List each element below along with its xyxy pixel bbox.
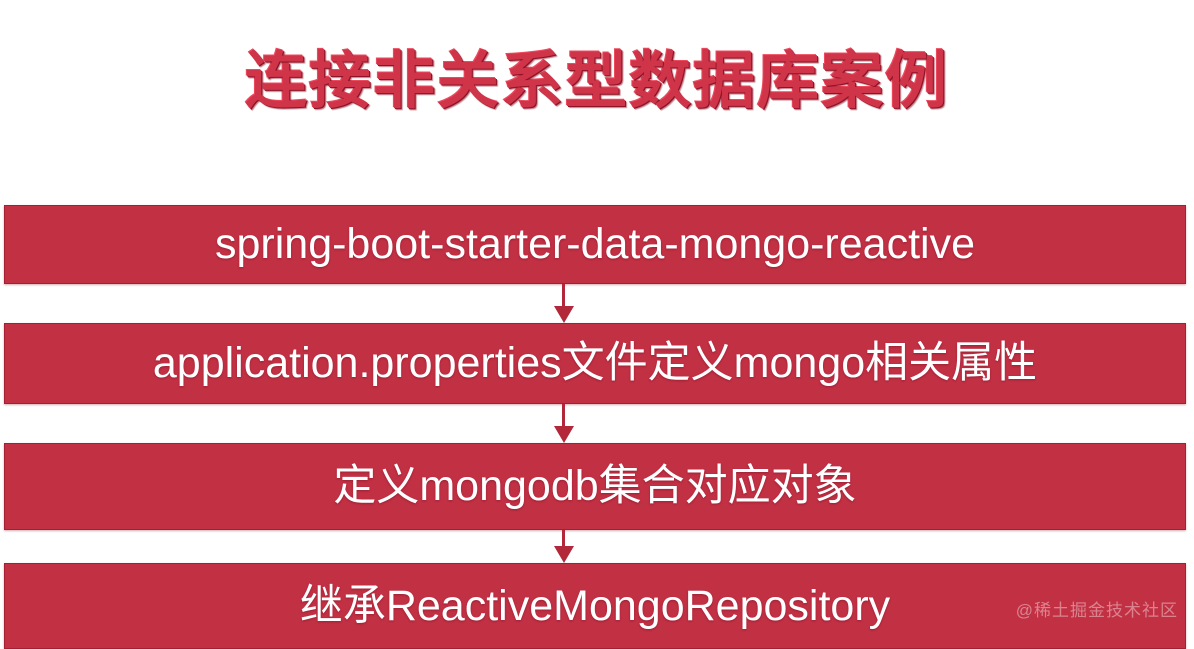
arrow-head <box>554 306 574 323</box>
arrow-shaft <box>562 284 565 308</box>
flow-step-2-label: application.properties文件定义mongo相关属性 <box>153 342 1037 385</box>
flow-step-3[interactable]: 定义mongodb集合对应对象 <box>4 443 1186 530</box>
flow-step-4[interactable]: 继承ReactiveMongoRepository <box>4 563 1186 649</box>
page-title: 连接非关系型数据库案例 <box>0 48 1194 116</box>
flow-step-1[interactable]: spring-boot-starter-data-mongo-reactive <box>4 205 1186 284</box>
flow-step-3-label: 定义mongodb集合对应对象 <box>333 465 856 508</box>
arrow-down-icon <box>554 530 574 563</box>
arrow-shaft <box>562 404 565 428</box>
arrow-head <box>554 426 574 443</box>
arrow-shaft <box>562 530 565 548</box>
arrow-down-icon <box>554 404 574 443</box>
flow-step-2[interactable]: application.properties文件定义mongo相关属性 <box>4 323 1186 404</box>
arrow-down-icon <box>554 284 574 323</box>
watermark: @稀土掘金技术社区 <box>1016 596 1178 621</box>
flow-step-4-label: 继承ReactiveMongoRepository <box>300 585 890 628</box>
flow-step-1-label: spring-boot-starter-data-mongo-reactive <box>215 223 975 266</box>
arrow-head <box>554 546 574 563</box>
